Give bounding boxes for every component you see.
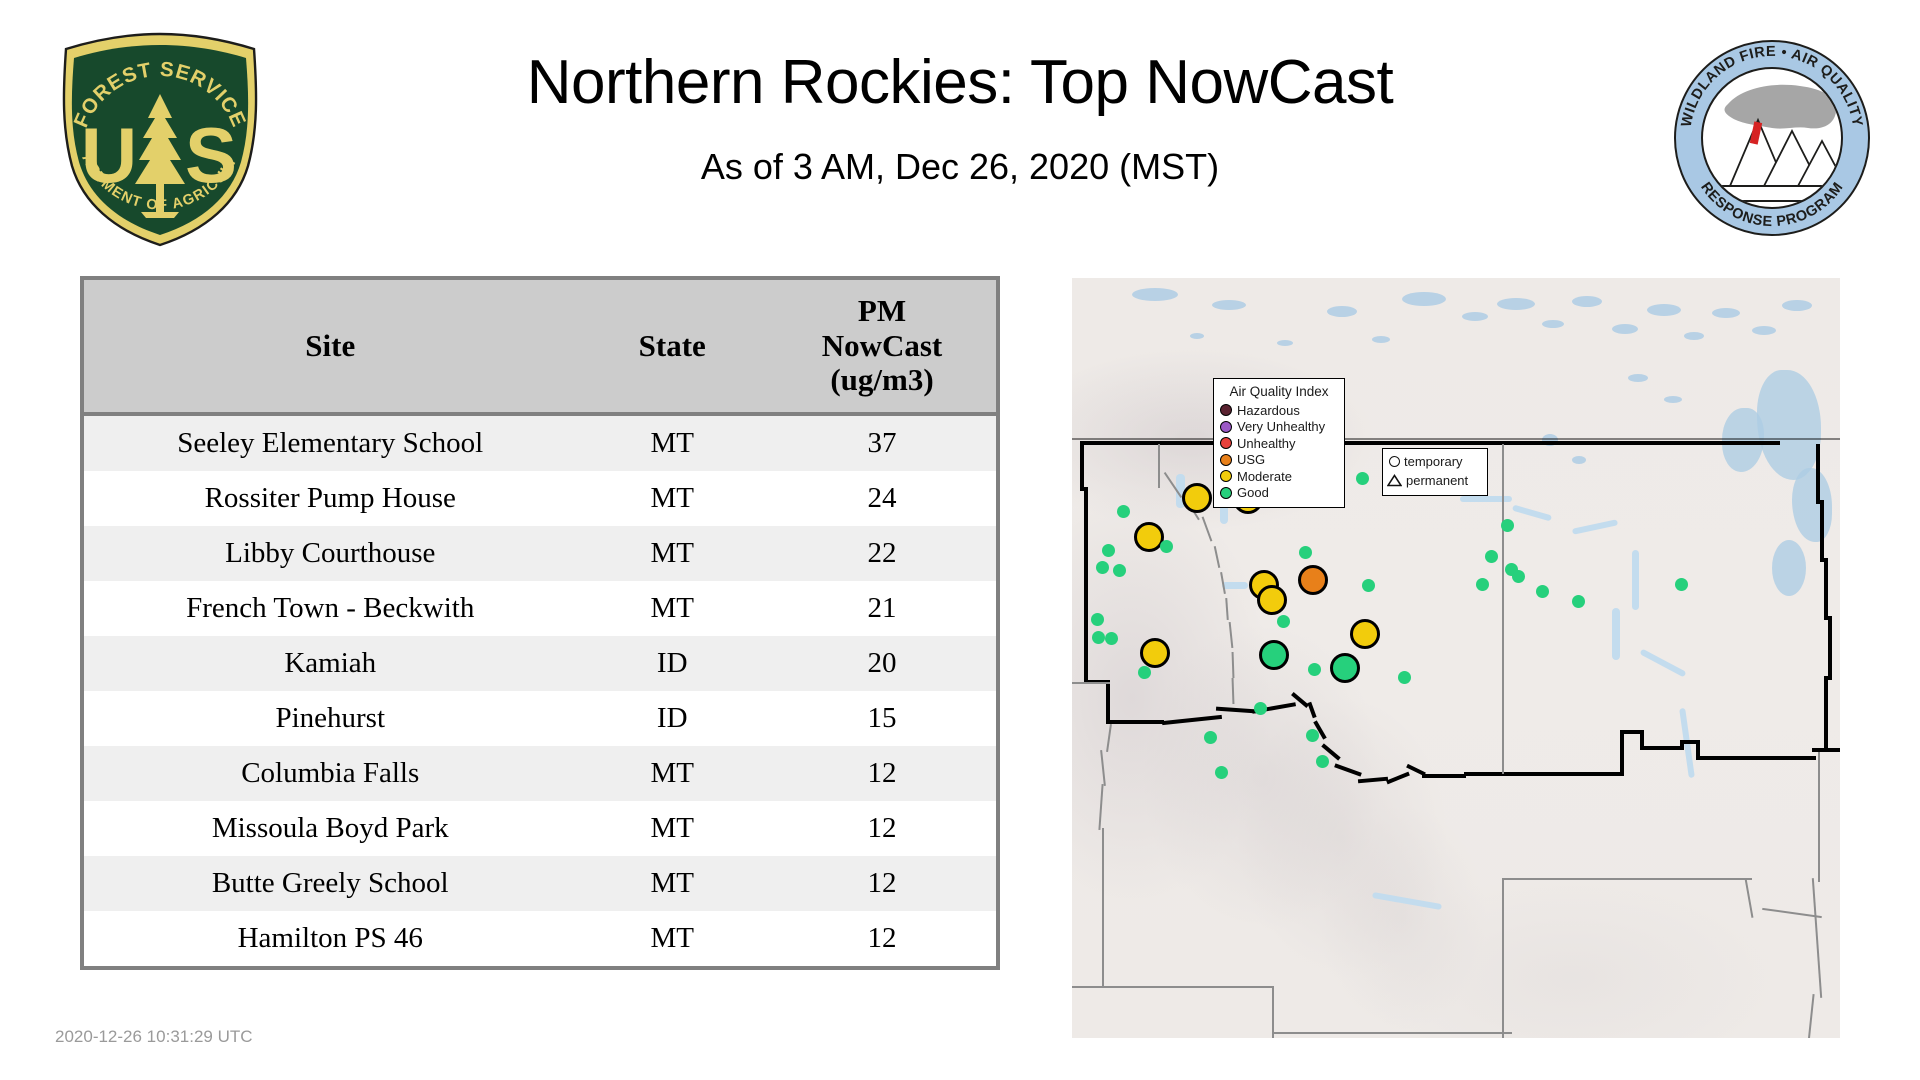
top-nowcast-table-panel: Site State PM NowCast (ug/m3) Seeley Ele…: [80, 276, 1000, 970]
circle-outline-icon: [1389, 456, 1400, 467]
cell-site: Seeley Elementary School: [84, 414, 576, 471]
state-border-nd-east: [1820, 500, 1824, 562]
water-body: [1628, 374, 1648, 382]
state-border-north: [1080, 441, 1780, 445]
column-header-pm-nowcast: PM NowCast (ug/m3): [768, 280, 996, 414]
aqi-legend-label: Good: [1237, 485, 1269, 500]
monitor-marker[interactable]: [1117, 505, 1130, 518]
monitor-marker[interactable]: [1398, 671, 1411, 684]
cell-site: Libby Courthouse: [84, 526, 576, 581]
cell-pm-nowcast: 12: [768, 856, 996, 911]
wfaqrp-seal-icon: WILDLAND FIRE • AIR QUALITY RESPONSE PRO…: [1672, 38, 1872, 238]
river: [1460, 496, 1512, 502]
aqi-legend-item: USG: [1220, 452, 1338, 469]
state-border-nd-east: [1816, 444, 1820, 504]
state-border-idaho-south: [1106, 720, 1164, 724]
monitor-marker[interactable]: [1512, 570, 1525, 583]
cell-pm-nowcast: 12: [768, 911, 996, 966]
monitor-marker[interactable]: [1257, 585, 1287, 615]
cell-site: Hamilton PS 46: [84, 911, 576, 966]
monitor-marker[interactable]: [1096, 561, 1109, 574]
water-body: [1612, 324, 1638, 334]
state-border-idaho-west: [1084, 487, 1088, 682]
table-row: Rossiter Pump HouseMT24: [84, 471, 996, 526]
cell-site: Columbia Falls: [84, 746, 576, 801]
state-border-nd-east: [1824, 722, 1828, 752]
page-header: FOREST SERVICE U S DEPARTMENT OF AGRICUL…: [0, 0, 1920, 270]
column-header-state: State: [576, 280, 768, 414]
state-border-thin: [1818, 752, 1820, 882]
state-border-mt-id: [1422, 774, 1466, 778]
cell-pm-nowcast: 20: [768, 636, 996, 691]
cell-state: MT: [576, 801, 768, 856]
monitor-marker[interactable]: [1113, 564, 1126, 577]
cell-state: MT: [576, 471, 768, 526]
aqi-color-swatch-icon: [1220, 437, 1232, 449]
aqi-legend-label: Hazardous: [1237, 403, 1300, 418]
water-body: [1542, 320, 1564, 328]
monitor-marker[interactable]: [1092, 631, 1105, 644]
water-body: [1772, 540, 1806, 596]
table-row: French Town - BeckwithMT21: [84, 581, 996, 636]
aqi-legend-item: Unhealthy: [1220, 435, 1338, 452]
cell-site: French Town - Beckwith: [84, 581, 576, 636]
monitor-marker[interactable]: [1316, 755, 1329, 768]
water-body: [1277, 340, 1293, 346]
state-border-thin: [1272, 1032, 1512, 1034]
state-border-sd-north: [1696, 756, 1816, 760]
state-border-wy: [1640, 746, 1684, 750]
monitor-marker[interactable]: [1675, 578, 1688, 591]
water-body: [1664, 396, 1682, 403]
air-quality-monitor-map[interactable]: Air Quality Index HazardousVery Unhealth…: [1072, 278, 1840, 1038]
monitor-type-legend: temporary permanent: [1382, 448, 1488, 496]
table-row: Columbia FallsMT12: [84, 746, 996, 801]
cell-pm-nowcast: 15: [768, 691, 996, 746]
monitor-marker[interactable]: [1091, 613, 1104, 626]
cell-state: MT: [576, 581, 768, 636]
monitor-marker[interactable]: [1362, 579, 1375, 592]
top-nowcast-table: Site State PM NowCast (ug/m3) Seeley Ele…: [84, 280, 996, 966]
water-body: [1684, 332, 1704, 340]
cell-site: Missoula Boyd Park: [84, 801, 576, 856]
cell-state: MT: [576, 746, 768, 801]
state-border-idaho-west: [1106, 680, 1110, 722]
air-quality-index-legend: Air Quality Index HazardousVery Unhealth…: [1213, 378, 1345, 508]
legend-label-temporary: temporary: [1404, 454, 1463, 469]
cell-pm-nowcast: 22: [768, 526, 996, 581]
water-body: [1497, 298, 1535, 310]
river: [1222, 582, 1248, 589]
table-header-row: Site State PM NowCast (ug/m3): [84, 280, 996, 414]
monitor-marker[interactable]: [1102, 544, 1115, 557]
footer-timestamp: 2020-12-26 10:31:29 UTC: [55, 1027, 253, 1047]
monitor-marker[interactable]: [1298, 565, 1328, 595]
cell-pm-nowcast: 24: [768, 471, 996, 526]
legend-label-permanent: permanent: [1406, 473, 1468, 488]
triangle-outline-icon: [1387, 474, 1402, 487]
table-row: Missoula Boyd ParkMT12: [84, 801, 996, 856]
cell-state: MT: [576, 911, 768, 966]
monitor-marker[interactable]: [1215, 766, 1228, 779]
table-row: PinehurstID15: [84, 691, 996, 746]
monitor-marker[interactable]: [1501, 519, 1514, 532]
water-body: [1132, 288, 1178, 301]
state-border-wy-west: [1620, 730, 1624, 776]
cell-state: ID: [576, 691, 768, 746]
monitor-marker[interactable]: [1308, 663, 1321, 676]
monitor-marker[interactable]: [1485, 550, 1498, 563]
column-header-site: Site: [84, 280, 576, 414]
monitor-marker[interactable]: [1138, 666, 1151, 679]
monitor-marker[interactable]: [1259, 640, 1289, 670]
state-border-thin: [1158, 444, 1160, 488]
water-body: [1212, 300, 1246, 310]
monitor-marker[interactable]: [1254, 702, 1267, 715]
state-border-mt-nd: [1502, 444, 1504, 774]
legend-row-temporary: temporary: [1387, 452, 1483, 471]
water-body: [1572, 456, 1586, 464]
aqi-legend-rows: HazardousVery UnhealthyUnhealthyUSGModer…: [1220, 402, 1338, 501]
cell-pm-nowcast: 12: [768, 801, 996, 856]
aqi-color-swatch-icon: [1220, 470, 1232, 482]
water-body: [1572, 296, 1602, 307]
state-border-nd-east: [1824, 558, 1828, 620]
water-body: [1712, 308, 1740, 318]
water-body: [1647, 304, 1681, 316]
monitor-marker[interactable]: [1350, 619, 1380, 649]
monitor-marker[interactable]: [1140, 638, 1170, 668]
water-body: [1190, 333, 1204, 339]
state-border-idaho-west: [1080, 441, 1084, 491]
water-body: [1372, 336, 1390, 343]
river: [1612, 608, 1620, 660]
water-body: [1402, 292, 1446, 306]
cell-pm-nowcast: 21: [768, 581, 996, 636]
monitor-marker[interactable]: [1356, 472, 1369, 485]
usda-forest-service-shield-icon: FOREST SERVICE U S DEPARTMENT OF AGRICUL…: [55, 32, 265, 247]
state-border-thin: [1072, 986, 1272, 988]
monitor-marker[interactable]: [1306, 729, 1319, 742]
cell-pm-nowcast: 12: [768, 746, 996, 801]
monitor-marker[interactable]: [1182, 483, 1212, 513]
water-body: [1782, 300, 1812, 311]
monitor-marker[interactable]: [1160, 540, 1173, 553]
aqi-color-swatch-icon: [1220, 487, 1232, 499]
aqi-legend-label: USG: [1237, 452, 1265, 467]
international-border: [1072, 438, 1840, 440]
aqi-legend-item: Hazardous: [1220, 402, 1338, 419]
aqi-legend-label: Very Unhealthy: [1237, 419, 1325, 434]
state-border-thin: [1102, 828, 1104, 988]
monitor-marker[interactable]: [1277, 615, 1290, 628]
table-body: Seeley Elementary SchoolMT37Rossiter Pum…: [84, 414, 996, 966]
monitor-marker[interactable]: [1330, 653, 1360, 683]
cell-state: MT: [576, 526, 768, 581]
cell-site: Rossiter Pump House: [84, 471, 576, 526]
aqi-legend-item: Moderate: [1220, 468, 1338, 485]
pm-header-line2: NowCast: [772, 329, 992, 364]
page-subtitle: As of 3 AM, Dec 26, 2020 (MST): [300, 147, 1620, 187]
cell-state: ID: [576, 636, 768, 691]
state-border-mt-wy: [1464, 772, 1624, 776]
pm-header-line3: (ug/m3): [772, 363, 992, 398]
aqi-legend-label: Unhealthy: [1237, 436, 1296, 451]
cell-state: MT: [576, 414, 768, 471]
table-row: Hamilton PS 46MT12: [84, 911, 996, 966]
river: [1632, 550, 1639, 610]
monitor-marker[interactable]: [1536, 585, 1549, 598]
table-header: Site State PM NowCast (ug/m3): [84, 280, 996, 414]
water-body: [1462, 312, 1488, 321]
legend-row-permanent: permanent: [1387, 471, 1483, 490]
monitor-marker[interactable]: [1572, 595, 1585, 608]
aqi-legend-title: Air Quality Index: [1220, 384, 1338, 399]
table-row: Butte Greely SchoolMT12: [84, 856, 996, 911]
table-row: KamiahID20: [84, 636, 996, 691]
map-terrain-background: [1072, 278, 1840, 1038]
monitor-marker[interactable]: [1476, 578, 1489, 591]
table-row: Seeley Elementary SchoolMT37: [84, 414, 996, 471]
table-row: Libby CourthouseMT22: [84, 526, 996, 581]
aqi-color-swatch-icon: [1220, 421, 1232, 433]
water-body: [1752, 326, 1776, 335]
aqi-legend-item: Very Unhealthy: [1220, 419, 1338, 436]
state-border-nd-east: [1824, 676, 1828, 726]
state-border-thin: [1272, 986, 1274, 1038]
pm-header-line1: PM: [772, 294, 992, 329]
aqi-legend-item: Good: [1220, 485, 1338, 502]
monitor-marker[interactable]: [1299, 546, 1312, 559]
state-border-thin: [1502, 878, 1504, 1038]
cell-site: Pinehurst: [84, 691, 576, 746]
cell-state: MT: [576, 856, 768, 911]
water-body: [1327, 306, 1357, 317]
state-border-thin: [1072, 682, 1110, 684]
monitor-marker[interactable]: [1105, 632, 1118, 645]
page-title: Northern Rockies: Top NowCast: [300, 50, 1620, 115]
aqi-color-swatch-icon: [1220, 454, 1232, 466]
cell-site: Kamiah: [84, 636, 576, 691]
aqi-color-swatch-icon: [1220, 404, 1232, 416]
monitor-marker[interactable]: [1204, 731, 1217, 744]
cell-site: Butte Greely School: [84, 856, 576, 911]
state-border-nd-east: [1828, 616, 1832, 680]
state-border-thin: [1502, 878, 1752, 880]
title-block: Northern Rockies: Top NowCast As of 3 AM…: [300, 50, 1620, 187]
cell-pm-nowcast: 37: [768, 414, 996, 471]
aqi-legend-label: Moderate: [1237, 469, 1292, 484]
